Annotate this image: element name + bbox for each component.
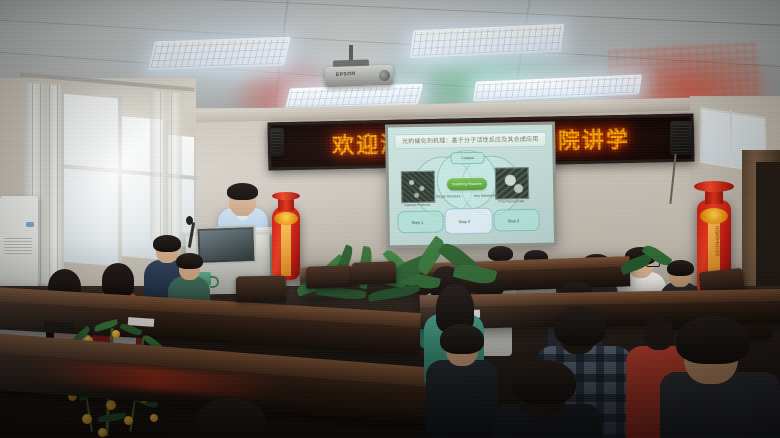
ac-vent-grill <box>4 238 32 254</box>
vase-lip <box>272 192 300 200</box>
attendee-head <box>644 316 674 350</box>
window-daylight-bloom <box>40 86 210 276</box>
attendee-hair <box>196 398 266 438</box>
wall-speaker <box>670 121 693 155</box>
window-mullion <box>730 110 732 168</box>
slide-node-left-label: Target Structure <box>433 194 463 199</box>
slide-center-label: Switching Reaction <box>447 182 487 187</box>
slide-box-left-label: Step 1 <box>412 220 424 225</box>
slide-box-right-label: Step 3 <box>508 218 520 223</box>
slide-top-label: Catalyst <box>451 156 483 161</box>
attendee-hair <box>676 316 750 364</box>
wall-speaker <box>270 128 284 156</box>
attendee-hair <box>176 253 203 269</box>
microphone-icon <box>186 216 193 225</box>
slide-top-node: Catalyst <box>450 152 484 165</box>
vase-bow <box>700 208 728 224</box>
slide-caption-left: Natural Products <box>397 203 437 208</box>
attendee-hair <box>554 306 606 346</box>
slide-title-bar: 光的催化剂机理：基于分子活性反应及其合成应用 <box>394 132 546 150</box>
slide-title: 光的催化剂机理：基于分子活性反应及其合成应用 <box>395 134 545 146</box>
ac-control-panel[interactable] <box>26 222 34 227</box>
slide-node-right-label: Key Intermediate <box>471 193 503 198</box>
slide-center-node: Switching Reaction <box>447 178 487 191</box>
slide-content: 光的催化剂机理：基于分子活性反应及其合成应用 Catalyst Natural … <box>388 125 554 246</box>
laptop[interactable] <box>195 225 256 265</box>
attendee-body <box>426 360 498 438</box>
attendee-hair <box>512 360 576 404</box>
vase-lip <box>694 181 734 192</box>
plant-foliage <box>620 244 690 284</box>
presenter-hair <box>227 183 258 200</box>
curtain <box>150 91 182 244</box>
slide-image-left <box>401 171 436 204</box>
chair[interactable] <box>352 261 397 285</box>
chair[interactable] <box>236 276 286 303</box>
slide-bottom-box: Step 2 <box>444 208 492 235</box>
attendee-hair <box>440 324 484 354</box>
laptop-screen <box>199 229 252 261</box>
ceiling-light-panel <box>148 37 291 71</box>
attendee-hair <box>153 235 181 252</box>
projector-brand-label: EPSON <box>336 71 356 78</box>
vase-bow <box>274 212 298 225</box>
slide-box-center-label: Step 2 <box>459 219 471 224</box>
attendee-hair <box>102 263 134 297</box>
vase-ribbon <box>281 222 291 276</box>
slide-caption-right: Pharmaceuticals <box>491 199 531 204</box>
slide-bottom-box: Step 1 <box>397 210 443 233</box>
projection-screen: 光的催化剂机理：基于分子活性反应及其合成应用 Catalyst Natural … <box>385 122 557 249</box>
vase-vertical-text: 庆祝学术交流 <box>708 226 720 256</box>
slide-bottom-box: Step 3 <box>493 209 539 232</box>
chair[interactable] <box>306 265 353 289</box>
lecture-hall-photo: EPSON 欢迎浙江大学 受来我院讲学 <box>0 0 780 438</box>
